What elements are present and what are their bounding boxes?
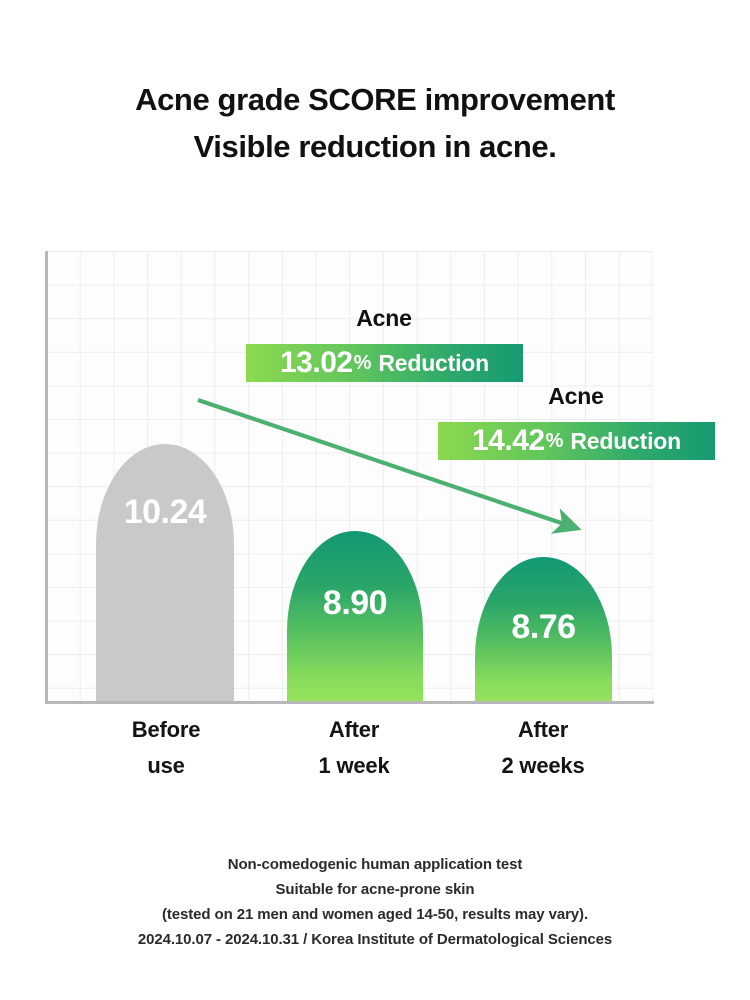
callout-2-number: 14.42 (472, 426, 545, 456)
title-line-2: Visible reduction in acne. (0, 123, 750, 170)
x-tick-before-use-line1: Before (76, 712, 256, 748)
x-axis-line (45, 701, 654, 704)
x-tick-after-2-weeks: After 2 weeks (453, 712, 633, 784)
y-axis-line (45, 251, 48, 703)
bar-before-use: 10.24 (96, 444, 234, 703)
callout-1-percent: % (354, 353, 372, 373)
footnote-line-2: Suitable for acne-prone skin (0, 877, 750, 902)
bar-shape-before-use (96, 444, 234, 703)
bar-value-before-use: 10.24 (96, 493, 234, 532)
callout-1-number: 13.02 (280, 348, 353, 378)
callout-1-label: Acne (246, 305, 522, 332)
callout-2-word: Reduction (570, 430, 681, 453)
footnote: Non-comedogenic human application test S… (0, 852, 750, 952)
x-tick-after-1-week-line2: 1 week (264, 748, 444, 784)
x-tick-after-2-weeks-line2: 2 weeks (453, 748, 633, 784)
bar-after-1-week: 8.90 (287, 531, 423, 703)
x-tick-before-use-line2: use (76, 748, 256, 784)
x-tick-after-1-week: After 1 week (264, 712, 444, 784)
callout-1-word: Reduction (378, 352, 489, 375)
callout-2-percent: % (546, 431, 564, 451)
title-line-1: Acne grade SCORE improvement (0, 76, 750, 123)
footnote-line-3: (tested on 21 men and women aged 14-50, … (0, 902, 750, 927)
callout-2-label: Acne (438, 383, 714, 410)
page-title: Acne grade SCORE improvement Visible red… (0, 76, 750, 170)
bar-value-after-2-weeks: 8.76 (475, 608, 612, 647)
footnote-line-1: Non-comedogenic human application test (0, 852, 750, 877)
callout-2-badge: 14.42 % Reduction (438, 422, 715, 460)
footnote-line-4: 2024.10.07 - 2024.10.31 / Korea Institut… (0, 927, 750, 952)
x-tick-before-use: Before use (76, 712, 256, 784)
x-tick-after-2-weeks-line1: After (453, 712, 633, 748)
x-tick-after-1-week-line1: After (264, 712, 444, 748)
bar-after-2-weeks: 8.76 (475, 557, 612, 703)
bar-value-after-1-week: 8.90 (287, 584, 423, 623)
callout-1-badge: 13.02 % Reduction (246, 344, 523, 382)
